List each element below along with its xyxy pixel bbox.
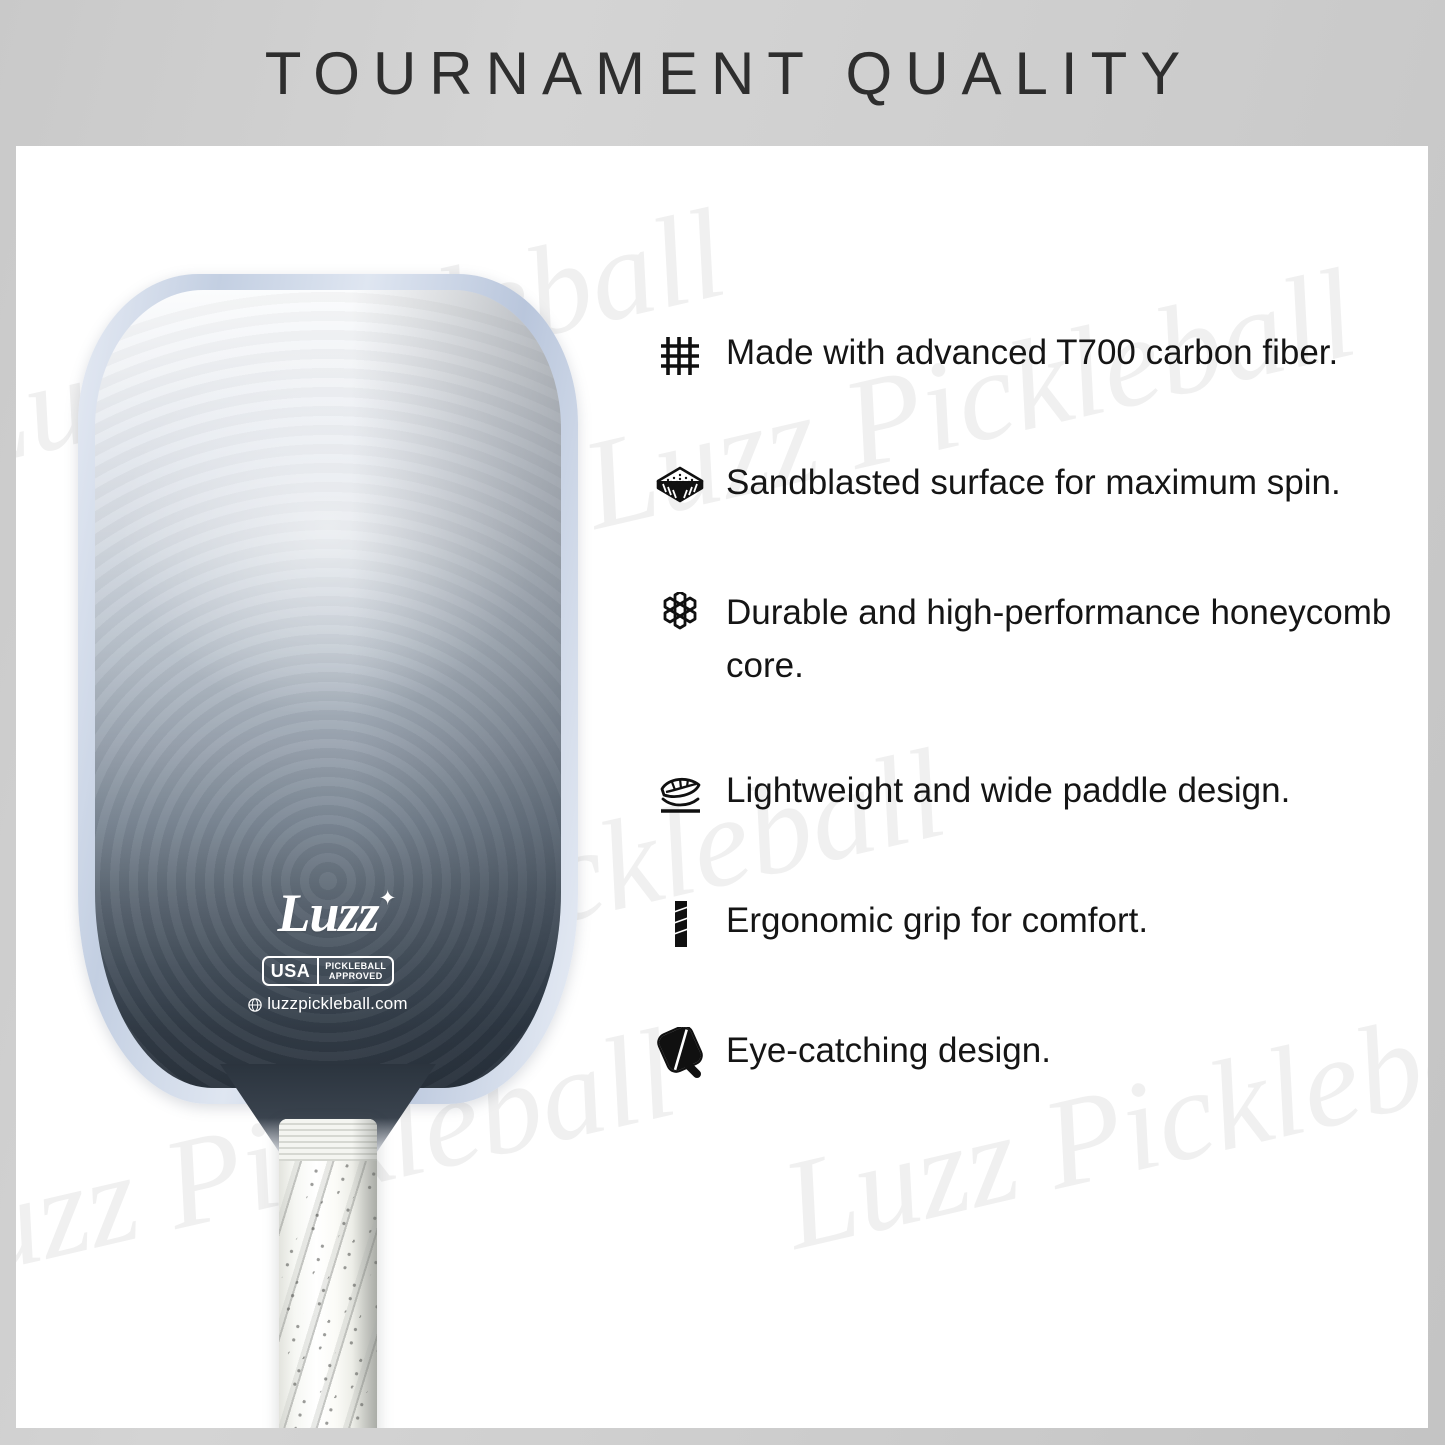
paddle-product-image: Luzz ✦ USA PICKLEBALL APPROVED bbox=[68, 274, 588, 1428]
usa-pickleball-approved-badge: USA PICKLEBALL APPROVED bbox=[262, 956, 395, 986]
product-feature-poster: TOURNAMENT QUALITY Luzz Pickleball Luzz … bbox=[0, 0, 1445, 1445]
feature-item: Lightweight and wide paddle design. bbox=[648, 764, 1408, 822]
page-title: TOURNAMENT QUALITY bbox=[252, 39, 1194, 108]
badge-line-1: PICKLEBALL bbox=[325, 961, 386, 971]
carbon-fiber-weave-icon bbox=[648, 328, 712, 384]
paddle-head: Luzz ✦ USA PICKLEBALL APPROVED bbox=[78, 274, 578, 1104]
grip-wrap bbox=[279, 1119, 377, 1428]
grip-handle-icon bbox=[648, 896, 712, 952]
brand-logo: Luzz ✦ bbox=[277, 886, 378, 940]
poster-header: TOURNAMENT QUALITY bbox=[0, 0, 1445, 146]
honeycomb-core-icon bbox=[648, 588, 712, 644]
feature-item: Made with advanced T700 carbon fiber. bbox=[648, 326, 1408, 384]
paddle-branding: Luzz ✦ USA PICKLEBALL APPROVED bbox=[78, 886, 578, 1014]
feature-label: Lightweight and wide paddle design. bbox=[712, 764, 1290, 817]
feature-label: Made with advanced T700 carbon fiber. bbox=[712, 326, 1338, 379]
badge-country: USA bbox=[264, 958, 318, 984]
sparkle-icon: ✦ bbox=[379, 888, 396, 909]
website-url: luzzpickleball.com bbox=[267, 994, 408, 1014]
content-panel: Luzz Pickleball Luzz Pickleball Luzz Pic… bbox=[16, 146, 1428, 1428]
paddle-handle bbox=[279, 1119, 377, 1428]
feature-item: Ergonomic grip for comfort. bbox=[648, 894, 1408, 952]
feather-lightweight-icon bbox=[648, 766, 712, 822]
globe-icon bbox=[248, 997, 262, 1011]
feature-item: Durable and high-performance honeycomb c… bbox=[648, 586, 1408, 692]
feature-list: Made with advanced T700 carbon fiber. bbox=[648, 326, 1408, 1154]
feature-label: Sandblasted surface for maximum spin. bbox=[712, 456, 1341, 509]
badge-approval: PICKLEBALL APPROVED bbox=[319, 958, 392, 984]
paddle-silhouette-icon bbox=[648, 1026, 712, 1082]
grip-shading bbox=[352, 1119, 377, 1428]
feature-label: Ergonomic grip for comfort. bbox=[712, 894, 1148, 947]
badge-line-2: APPROVED bbox=[325, 971, 386, 981]
brand-logo-text: Luzz bbox=[277, 883, 378, 943]
feature-item: Eye-catching design. bbox=[648, 1024, 1408, 1082]
sandblasted-surface-icon bbox=[648, 458, 712, 514]
feature-label: Durable and high-performance honeycomb c… bbox=[712, 586, 1408, 692]
feature-item: Sandblasted surface for maximum spin. bbox=[648, 456, 1408, 514]
feature-label: Eye-catching design. bbox=[712, 1024, 1051, 1077]
brand-website: luzzpickleball.com bbox=[78, 994, 578, 1014]
